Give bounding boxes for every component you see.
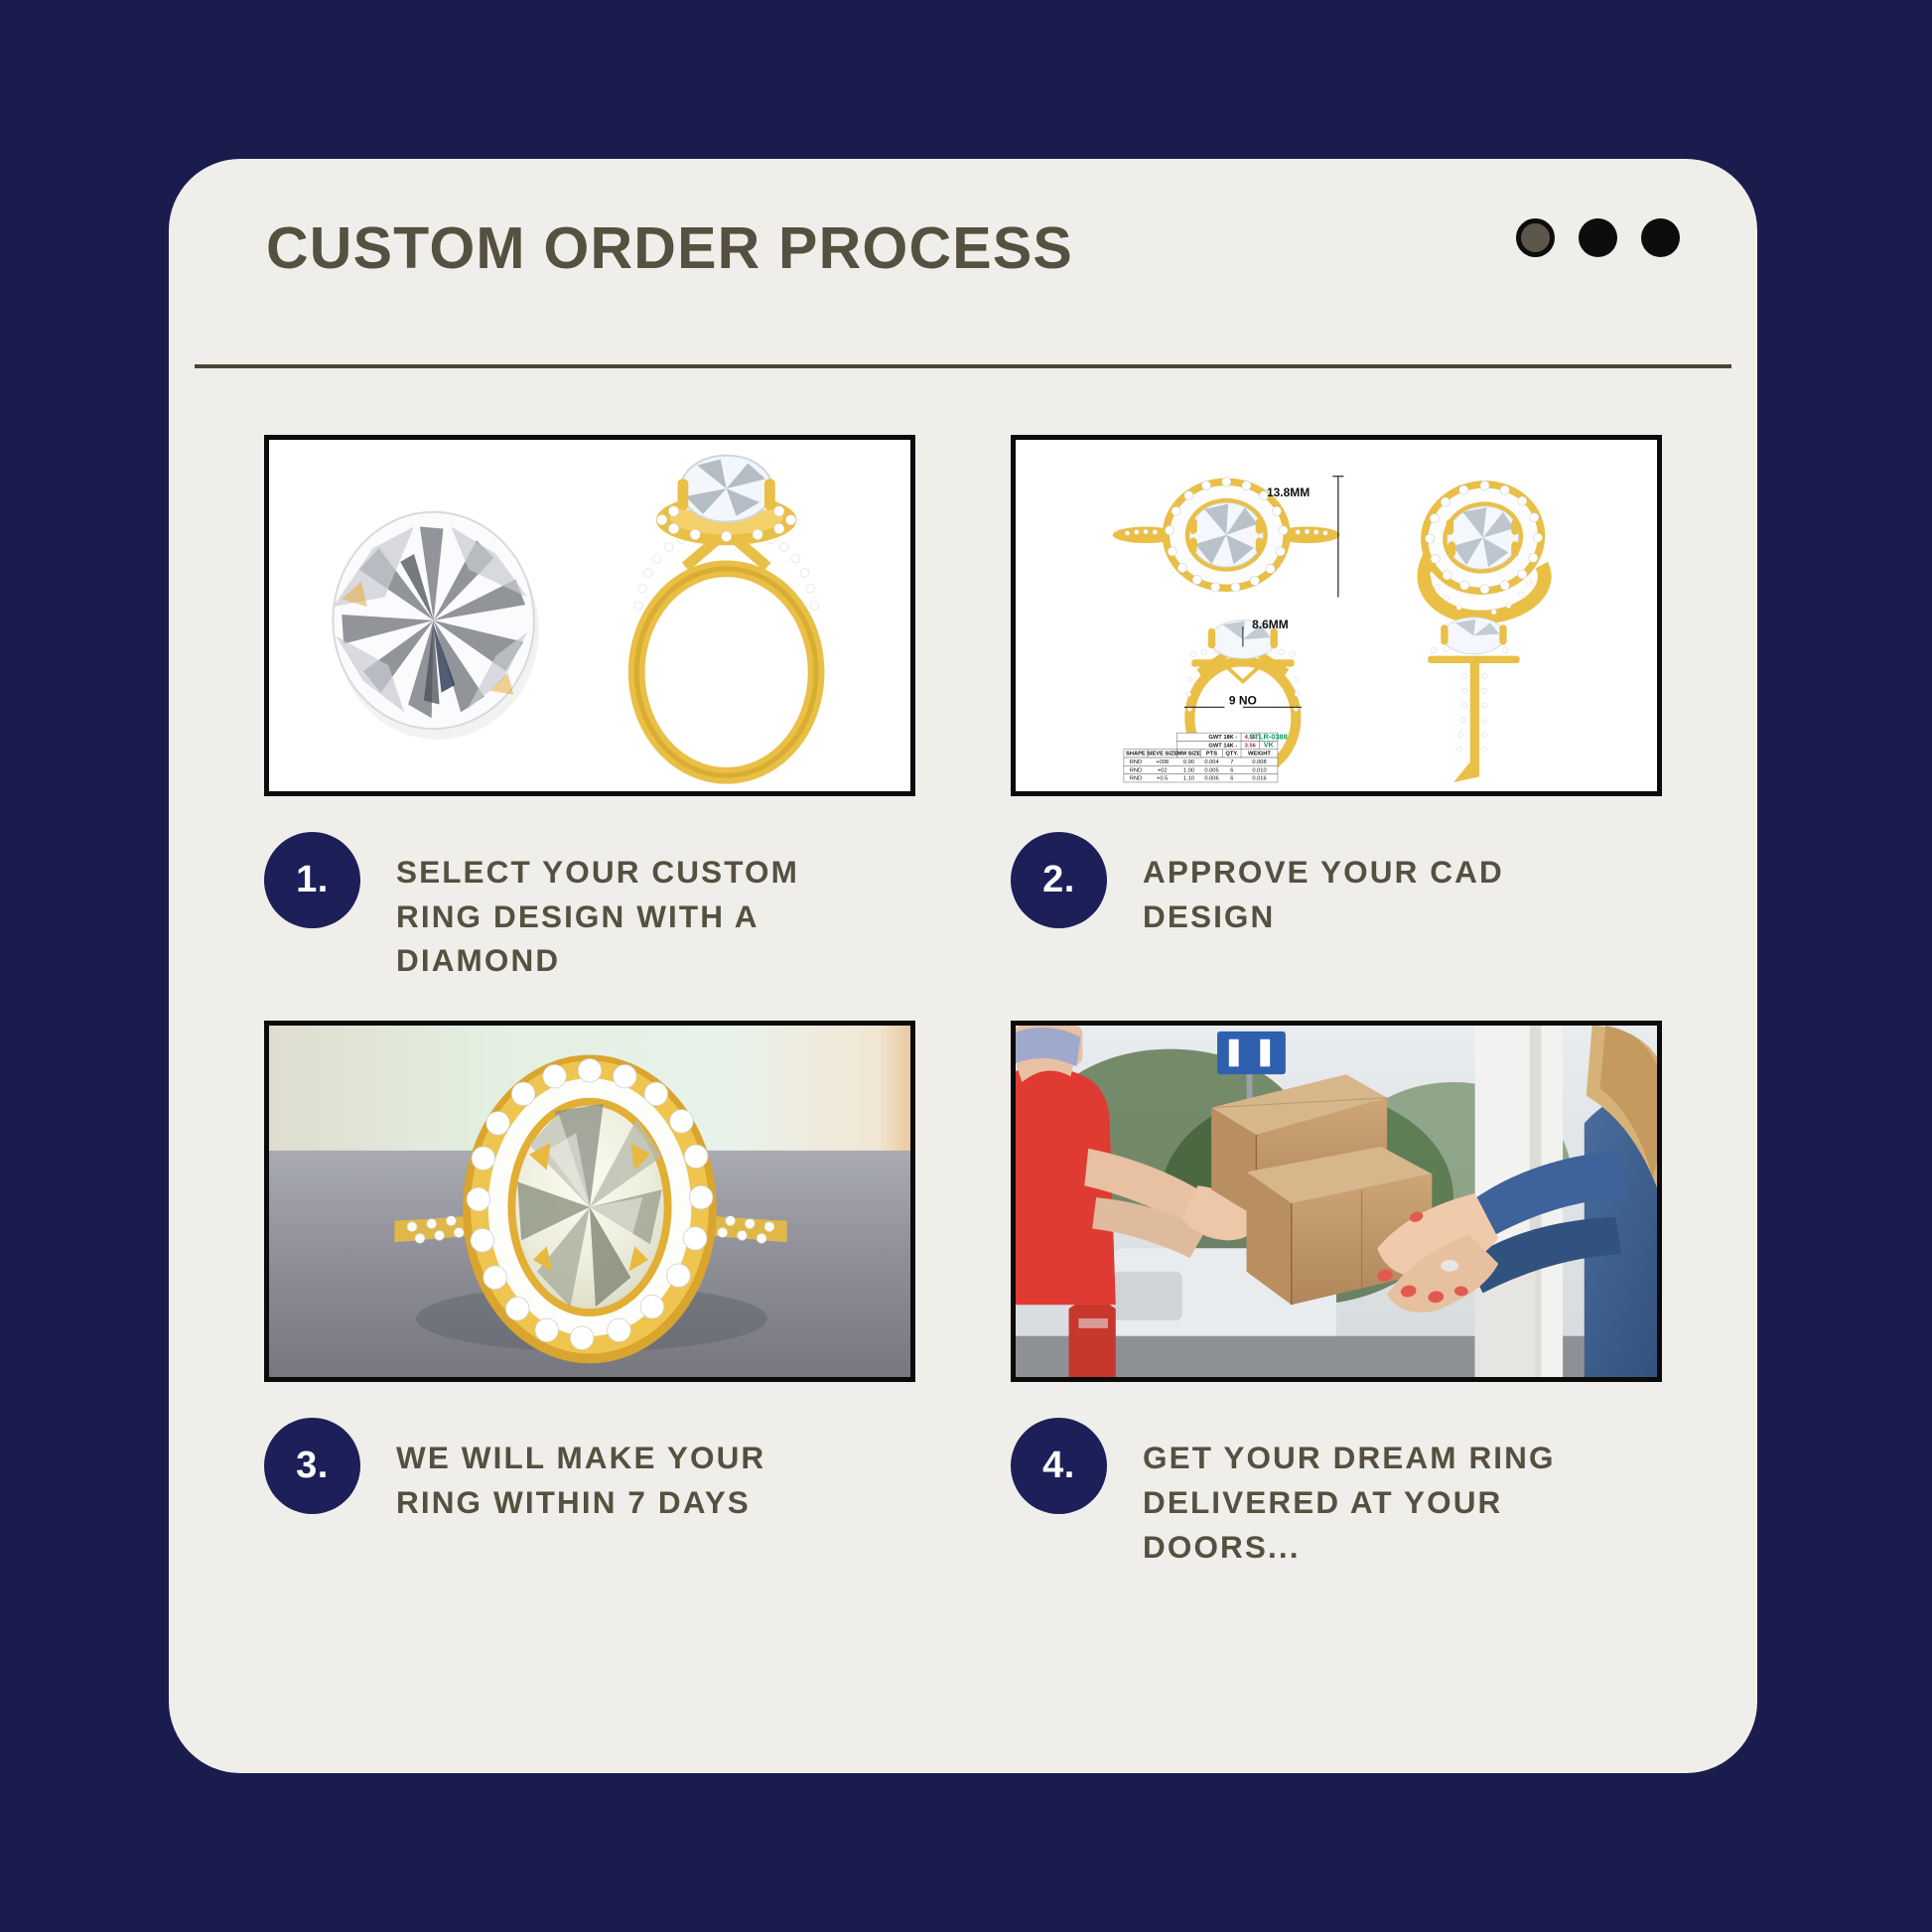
step-4-text: GET YOUR DREAM RING DELIVERED AT YOUR DO…: [1143, 1418, 1639, 1569]
page-root: CUSTOM ORDER PROCESS: [0, 0, 1932, 1932]
cad-gwt18k-label: GWT 18K -: [1208, 735, 1237, 741]
cad-dimension-top: 13.8MM: [1267, 485, 1310, 499]
step-3-badge: 3.: [264, 1418, 360, 1514]
step-1-caption: 1. SELECT YOUR CUSTOM RING DESIGN WITH A…: [264, 832, 915, 983]
cad-r1c4: 6: [1230, 767, 1233, 773]
step-4-badge: 4.: [1011, 1418, 1107, 1514]
cad-r1c1: +02: [1158, 767, 1168, 773]
step-3-text: WE WILL MAKE YOUR RING WITHIN 7 DAYS: [396, 1418, 863, 1524]
steps-grid: 1. SELECT YOUR CUSTOM RING DESIGN WITH A…: [169, 387, 1757, 1569]
window-dot-olive-icon[interactable]: [1516, 218, 1555, 257]
cad-r0c5: 0.008: [1252, 759, 1266, 765]
cad-th-weight: WEIGHT: [1248, 752, 1271, 758]
step-2: 13.8MM: [1011, 435, 1662, 983]
cad-th-qty: QTY.: [1225, 752, 1238, 758]
step-1-image: [264, 435, 915, 796]
cad-r1c0: RND: [1130, 767, 1142, 773]
cad-r2c0: RND: [1130, 776, 1142, 782]
cad-gwt14k-value: 3.56: [1245, 743, 1256, 749]
step-2-image: 13.8MM: [1011, 435, 1662, 796]
cad-th-mmsize: MM SIZE: [1177, 752, 1201, 758]
step-1-text: SELECT YOUR CUSTOM RING DESIGN WITH A DI…: [396, 832, 863, 983]
step-4-caption: 4. GET YOUR DREAM RING DELIVERED AT YOUR…: [1011, 1418, 1662, 1569]
step-4-image: [1011, 1021, 1662, 1382]
cad-r1c5: 0.010: [1252, 767, 1266, 773]
cad-r0c1: +008: [1156, 759, 1169, 765]
header-divider: [195, 364, 1731, 368]
cad-r2c2: 1.10: [1183, 776, 1194, 782]
cad-r2c5: 0.016: [1252, 776, 1266, 782]
cad-gwt14k-label: GWT 14K -: [1208, 743, 1237, 749]
cad-r0c0: RND: [1130, 759, 1142, 765]
cad-r2c3: 0.006: [1204, 776, 1218, 782]
cad-th-sieve: SIEVE SIZE: [1147, 752, 1177, 758]
custom-order-process-card: CUSTOM ORDER PROCESS: [169, 159, 1757, 1773]
step-1-badge: 1.: [264, 832, 360, 928]
cad-r0c3: 0.004: [1204, 759, 1219, 765]
cad-r1c2: 1.00: [1183, 767, 1194, 773]
finished-ring-photo-illustration: [269, 1026, 910, 1377]
step-2-text: APPROVE YOUR CAD DESIGN: [1143, 832, 1639, 938]
step-3-caption: 3. WE WILL MAKE YOUR RING WITHIN 7 DAYS: [264, 1418, 915, 1524]
step-2-caption: 2. APPROVE YOUR CAD DESIGN: [1011, 832, 1662, 938]
step-1: 1. SELECT YOUR CUSTOM RING DESIGN WITH A…: [264, 435, 915, 983]
window-dots: [1516, 218, 1680, 257]
step-3-image: [264, 1021, 915, 1382]
step-3: 3. WE WILL MAKE YOUR RING WITHIN 7 DAYS: [264, 1021, 915, 1569]
cad-dimension-mid: 8.6MM: [1252, 618, 1289, 631]
cad-th-shape: SHAPE: [1126, 752, 1146, 758]
delivery-handoff-photo-illustration: [1016, 1026, 1657, 1377]
cad-r0c4: 7: [1230, 759, 1233, 765]
step-4: 4. GET YOUR DREAM RING DELIVERED AT YOUR…: [1011, 1021, 1662, 1569]
cad-r2c1: +0.5: [1157, 776, 1168, 782]
cad-r2c4: 6: [1230, 776, 1233, 782]
diamond-and-ring-illustration: [269, 440, 910, 791]
card-header: CUSTOM ORDER PROCESS: [169, 159, 1757, 387]
cad-th-pts: PTS: [1206, 752, 1217, 758]
cad-ring-size-label: 9 NO: [1229, 694, 1257, 708]
cad-r0c2: 0.90: [1183, 759, 1194, 765]
step-2-badge: 2.: [1011, 832, 1107, 928]
page-title: CUSTOM ORDER PROCESS: [266, 214, 1073, 282]
window-dot-black-1-icon[interactable]: [1579, 218, 1617, 257]
cad-drawing-illustration: 13.8MM: [1016, 440, 1657, 791]
cad-r1c3: 0.005: [1204, 767, 1218, 773]
window-dot-black-2-icon[interactable]: [1641, 218, 1680, 257]
cad-initials: VK: [1264, 741, 1275, 750]
